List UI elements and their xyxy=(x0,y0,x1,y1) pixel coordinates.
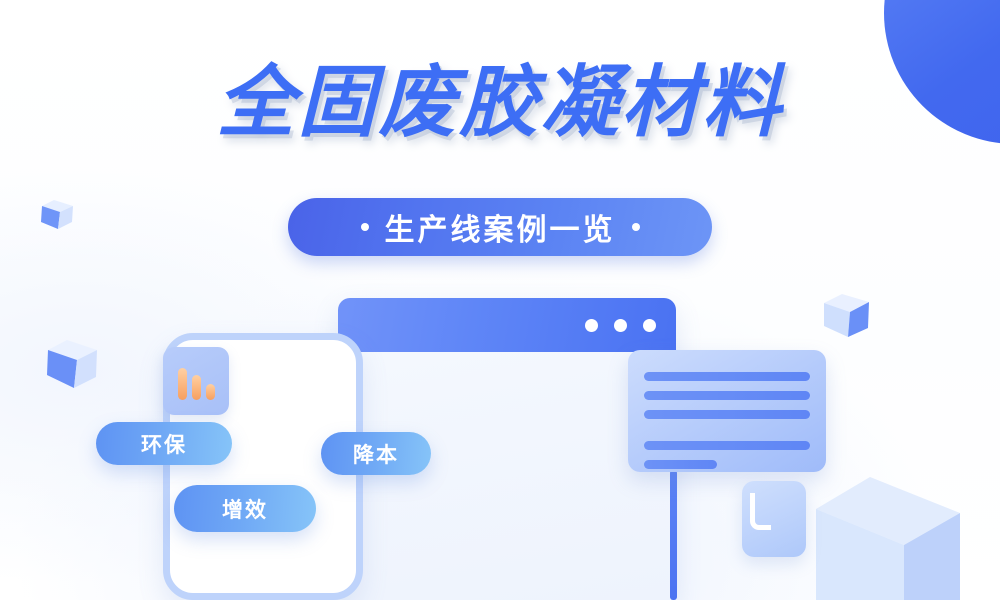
cube-icon xyxy=(822,292,872,340)
box-icon xyxy=(812,455,992,600)
window-dot-icon xyxy=(614,319,627,332)
isometric-box-decoration xyxy=(812,455,992,600)
dot-right-icon xyxy=(632,223,640,231)
document-lines-card xyxy=(628,350,826,472)
document-line xyxy=(644,391,810,400)
dot-left-icon xyxy=(361,223,369,231)
poster-canvas: 全固废胶凝材料 生产线案例一览 环保 降本 增效 xyxy=(0,0,1000,600)
document-line xyxy=(644,372,810,381)
cube-decoration-right xyxy=(822,292,872,345)
feature-pill-jiangben: 降本 xyxy=(321,432,431,475)
cube-icon xyxy=(40,198,76,232)
chart-bar-icon xyxy=(206,384,215,400)
cube-decoration-small-left xyxy=(40,198,76,237)
cube-icon xyxy=(45,338,101,392)
window-dot-icon xyxy=(643,319,656,332)
page-title: 全固废胶凝材料 xyxy=(216,64,783,144)
browser-side-accent xyxy=(670,470,677,600)
feature-pill-zengxiao: 增效 xyxy=(174,485,316,532)
bar-chart-icon-tile xyxy=(163,347,229,415)
subtitle-text: 生产线案例一览 xyxy=(385,205,616,249)
title-block: 全固废胶凝材料 xyxy=(0,64,1000,144)
document-line xyxy=(644,410,810,419)
feature-pill-huanbao: 环保 xyxy=(96,422,232,465)
chart-bar-icon xyxy=(192,375,201,400)
cube-decoration-large-left xyxy=(45,338,101,397)
window-dot-icon xyxy=(585,319,598,332)
document-line xyxy=(644,460,717,469)
browser-titlebar xyxy=(338,298,676,352)
document-line xyxy=(644,441,810,450)
chart-bar-icon xyxy=(178,368,187,400)
browser-content-area xyxy=(338,352,676,600)
note-hook-icon xyxy=(750,493,771,530)
subtitle-badge: 生产线案例一览 xyxy=(288,198,712,256)
note-card xyxy=(742,481,806,557)
